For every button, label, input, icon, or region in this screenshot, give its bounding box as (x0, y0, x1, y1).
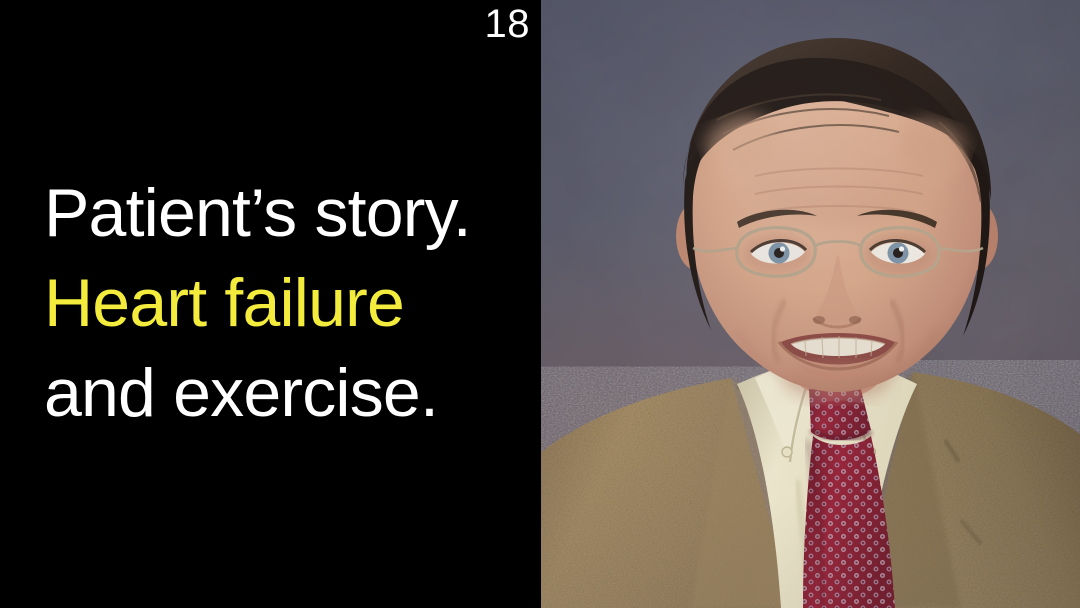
headline-line-3: and exercise. (44, 348, 514, 438)
headline-line-1: Patient’s story. (44, 168, 514, 258)
portrait-photo (541, 0, 1080, 608)
presentation-slide: 18 Patient’s story. Heart failure and ex… (0, 0, 1080, 608)
headline-block: Patient’s story. Heart failure and exerc… (44, 168, 514, 438)
headline-line-2: Heart failure (44, 258, 514, 348)
title-panel: 18 Patient’s story. Heart failure and ex… (0, 0, 541, 608)
portrait-illustration (541, 0, 1080, 608)
slide-number: 18 (485, 4, 531, 44)
